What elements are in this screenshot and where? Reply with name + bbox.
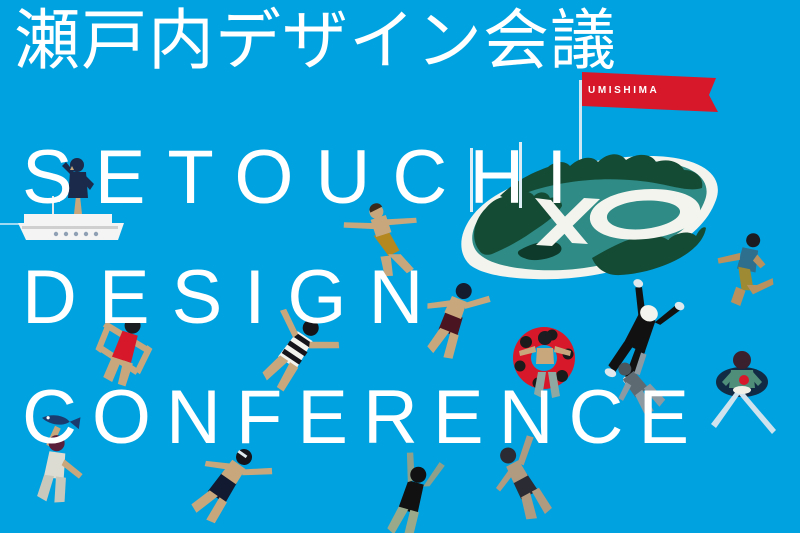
boat-hull-stripe: [22, 226, 118, 229]
title-line-conference: CONFERENCE: [22, 374, 704, 461]
kayak-spray-skirt: [733, 386, 751, 394]
title-line-design: DESIGN: [22, 254, 445, 341]
boat-hull: [18, 223, 124, 240]
title-line-setouchi: SETOUCHI: [22, 134, 589, 221]
kayaker-head: [733, 351, 751, 369]
floater-head: [538, 331, 552, 345]
floater-torso: [536, 348, 554, 364]
kayaker-badge: [739, 375, 749, 385]
poster-canvas: 瀬戸内デザイン会議 UMISHIMA SETOUCHI DESIGN CONFE…: [0, 0, 800, 533]
japanese-title: 瀬戸内デザイン会議: [14, 8, 617, 74]
flag-label-umishima: UMISHIMA: [588, 85, 659, 96]
